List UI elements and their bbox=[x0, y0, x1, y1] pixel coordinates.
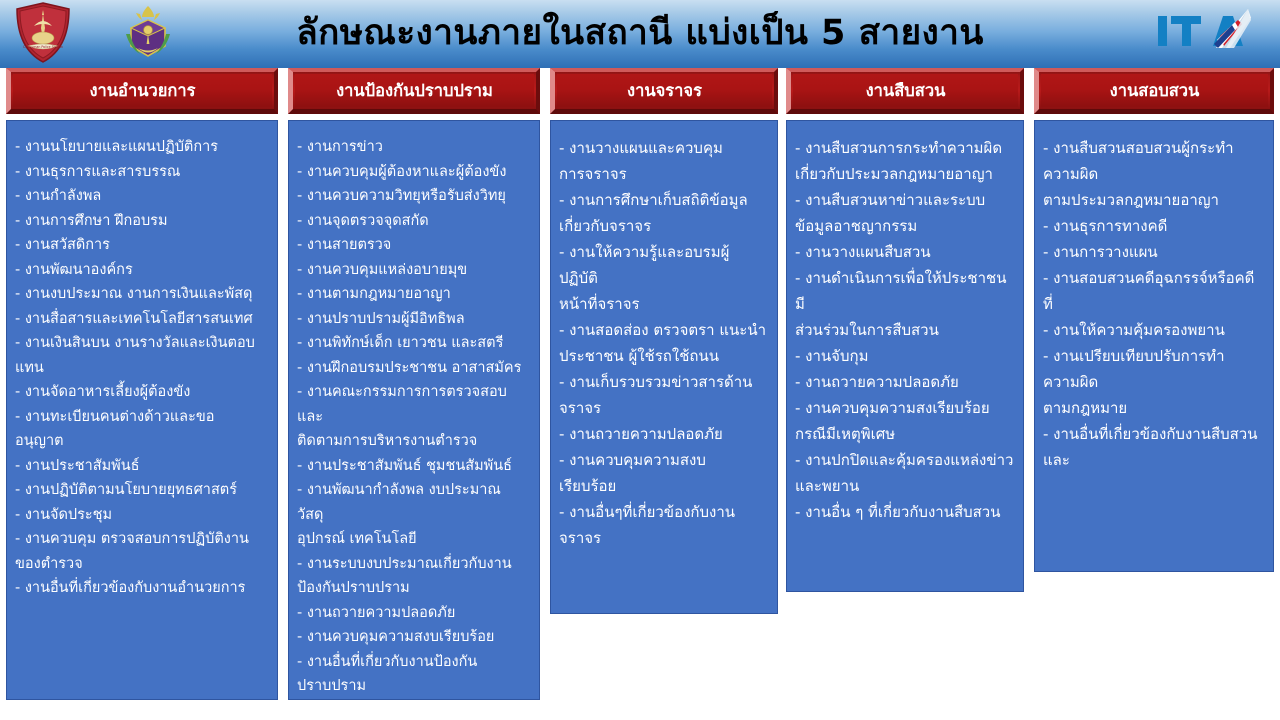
list-item: - งานอื่นที่เกี่ยวกับงานป้องกัน ปราบปราม bbox=[297, 650, 531, 699]
list-item: - งานคณะกรรมการการตรวจสอบและ ติดตามการบร… bbox=[297, 380, 531, 454]
column-body-4: - งานสืบสวนการกระทำความผิด เกี่ยวกับประม… bbox=[786, 120, 1024, 592]
list-item: - งานสอบสวนคดีอุฉกรรจ์หรือคดี ที่ bbox=[1043, 265, 1265, 317]
page-title: ลักษณะงานภายในสถานี แบ่งเป็น 5 สายงาน bbox=[0, 6, 1280, 60]
column-ngan-suepsuan: งานสืบสวน - งานสืบสวนการกระทำความผิด เกี… bbox=[786, 68, 1024, 592]
list-item: - งานฝึกอบรมประชาชน อาสาสมัคร bbox=[297, 356, 531, 381]
column-header-3[interactable]: งานจราจร bbox=[550, 68, 778, 114]
list-item: - งานอื่น ๆ ที่เกี่ยวกับงานสืบสวน bbox=[795, 499, 1015, 525]
ita-logo bbox=[1156, 6, 1264, 58]
list-item: - งานธุรการและสารบรรณ bbox=[15, 160, 269, 185]
column-header-1[interactable]: งานอำนวยการ bbox=[6, 68, 278, 114]
column-header-4[interactable]: งานสืบสวน bbox=[786, 68, 1024, 114]
list-item: - งานสวัสดิการ bbox=[15, 233, 269, 258]
list-item: - งานกำลังพล bbox=[15, 184, 269, 209]
slide-root: Chanuman Police Station ลักษณะงานภายในสถ… bbox=[0, 0, 1280, 720]
list-item: - งานควบคุมผู้ต้องหาและผู้ต้องขัง bbox=[297, 160, 531, 185]
work-categories-row: งานอำนวยการ - งานนโยบายและแผนปฏิบัติการ … bbox=[0, 68, 1280, 720]
column-title-3: งานจราจร bbox=[627, 78, 702, 104]
list-item: - งานการศึกษาเก็บสถิติข้อมูล เกี่ยวกับจร… bbox=[559, 187, 769, 239]
list-item: - งานระบบงบประมาณเกี่ยวกับงาน ป้องกันปรา… bbox=[297, 552, 531, 601]
list-item: - งานเปรียบเทียบปรับการทำ ความผิด ตามกฎห… bbox=[1043, 343, 1265, 421]
list-item: - งานการวางแผน bbox=[1043, 239, 1265, 265]
list-item: - งานพัฒนากำลังพล งบประมาณ วัสดุ อุปกรณ์… bbox=[297, 478, 531, 552]
slide-header: Chanuman Police Station ลักษณะงานภายในสถ… bbox=[0, 0, 1280, 68]
list-item: - งานประชาสัมพันธ์ ชุมชนสัมพันธ์ bbox=[297, 454, 531, 479]
list-item: - งานสายตรวจ bbox=[297, 233, 531, 258]
list-item: - งานสืบสวนหาข่าวและระบบ ข้อมูลอาชญากรรม bbox=[795, 187, 1015, 239]
column-ngan-charachon: งานจราจร - งานวางแผนและควบคุม การจราจร -… bbox=[550, 68, 778, 614]
list-item: - งานวางแผนและควบคุม การจราจร bbox=[559, 135, 769, 187]
column-title-5: งานสอบสวน bbox=[1110, 78, 1200, 104]
list-item: - งานควบคุมความสงบเรียบร้อย bbox=[297, 625, 531, 650]
list-item: - งานอื่นที่เกี่ยวข้องกับงานสืบสวน และ bbox=[1043, 421, 1265, 473]
list-item: - งานให้ความรู้และอบรมผู้ ปฏิบัติ หน้าที… bbox=[559, 239, 769, 317]
column-ngan-amnuaykan: งานอำนวยการ - งานนโยบายและแผนปฏิบัติการ … bbox=[6, 68, 278, 700]
list-item: - งานควบคุม ตรวจสอบการปฏิบัติงาน ของตำรว… bbox=[15, 527, 269, 576]
list-item: - งานอื่นที่เกี่ยวข้องกับงานอำนวยการ bbox=[15, 576, 269, 601]
list-item: - งานควบคุมความสงบ เรียบร้อย bbox=[559, 447, 769, 499]
column-header-2[interactable]: งานป้องกันปราบปราม bbox=[288, 68, 540, 114]
list-item: - งานจับกุม bbox=[795, 343, 1015, 369]
list-item: - งานควบคุมความสงเรียบร้อย กรณีมีเหตุพิเ… bbox=[795, 395, 1015, 447]
list-item: - งานธุรการทางคดี bbox=[1043, 213, 1265, 239]
list-item: - งานปกปิดและคุ้มครองแหล่งข่าว และพยาน bbox=[795, 447, 1015, 499]
list-item: - งานเงินสินบน งานรางวัลและเงินตอบ แทน bbox=[15, 331, 269, 380]
list-item: - งานการศึกษา ฝึกอบรม bbox=[15, 209, 269, 234]
list-item: - งานจุดตรวจจุดสกัด bbox=[297, 209, 531, 234]
list-item: - งานนโยบายและแผนปฏิบัติการ bbox=[15, 135, 269, 160]
list-item: - งานงบประมาณ งานการเงินและพัสดุ bbox=[15, 282, 269, 307]
column-title-4: งานสืบสวน bbox=[866, 78, 946, 104]
list-item: - งานถวายความปลอดภัย bbox=[559, 421, 769, 447]
column-ngan-sopsuan: งานสอบสวน - งานสืบสวนสอบสวนผู้กระทำ ความ… bbox=[1034, 68, 1274, 572]
list-item: - งานอื่นๆที่เกี่ยวข้องกับงาน จราจร bbox=[559, 499, 769, 551]
list-item: - งานสืบสวนการกระทำความผิด เกี่ยวกับประม… bbox=[795, 135, 1015, 187]
list-item: - งานเก็บรวบรวมข่าวสารด้าน จราจร bbox=[559, 369, 769, 421]
list-item: - งานสอดส่อง ตรวจตรา แนะนำ ประชาชน ผู้ใช… bbox=[559, 317, 769, 369]
column-body-1: - งานนโยบายและแผนปฏิบัติการ - งานธุรการแ… bbox=[6, 120, 278, 700]
list-item: - งานประชาสัมพันธ์ bbox=[15, 454, 269, 479]
column-body-3: - งานวางแผนและควบคุม การจราจร - งานการศึ… bbox=[550, 120, 778, 614]
list-item: - งานพิทักษ์เด็ก เยาวชน และสตรี bbox=[297, 331, 531, 356]
column-header-5[interactable]: งานสอบสวน bbox=[1034, 68, 1274, 114]
list-item: - งานวางแผนสืบสวน bbox=[795, 239, 1015, 265]
list-item: - งานสื่อสารและเทคโนโลยีสารสนเทศ bbox=[15, 307, 269, 332]
list-item: - งานปราบปรามผู้มีอิทธิพล bbox=[297, 307, 531, 332]
list-item: - งานทะเบียนคนต่างด้าวและขอ อนุญาต bbox=[15, 405, 269, 454]
column-ngan-pongkan-prabpram: งานป้องกันปราบปราม - งานการข่าว - งานควบ… bbox=[288, 68, 540, 700]
list-item: - งานจัดอาหารเลี้ยงผู้ต้องขัง bbox=[15, 380, 269, 405]
list-item: - งานจัดประชุม bbox=[15, 503, 269, 528]
column-title-2: งานป้องกันปราบปราม bbox=[336, 78, 493, 104]
list-item: - งานควบความวิทยุหรือรับส่งวิทยุ bbox=[297, 184, 531, 209]
column-body-5: - งานสืบสวนสอบสวนผู้กระทำ ความผิด ตามประ… bbox=[1034, 120, 1274, 572]
column-body-2: - งานการข่าว - งานควบคุมผู้ต้องหาและผู้ต… bbox=[288, 120, 540, 700]
list-item: - งานถวายความปลอดภัย bbox=[795, 369, 1015, 395]
list-item: - งานตามกฎหมายอาญา bbox=[297, 282, 531, 307]
list-item: - งานควบคุมแหล่งอบายมุข bbox=[297, 258, 531, 283]
list-item: - งานปฏิบัติตามนโยบายยุทธศาสตร์ bbox=[15, 478, 269, 503]
column-title-1: งานอำนวยการ bbox=[89, 78, 195, 104]
list-item: - งานถวายความปลอดภัย bbox=[297, 601, 531, 626]
list-item: - งานพัฒนาองค์กร bbox=[15, 258, 269, 283]
list-item: - งานสืบสวนสอบสวนผู้กระทำ ความผิด ตามประ… bbox=[1043, 135, 1265, 213]
list-item: - งานให้ความคุ้มครองพยาน bbox=[1043, 317, 1265, 343]
list-item: - งานการข่าว bbox=[297, 135, 531, 160]
list-item: - งานดำเนินการเพื่อให้ประชาชนมี ส่วนร่วม… bbox=[795, 265, 1015, 343]
